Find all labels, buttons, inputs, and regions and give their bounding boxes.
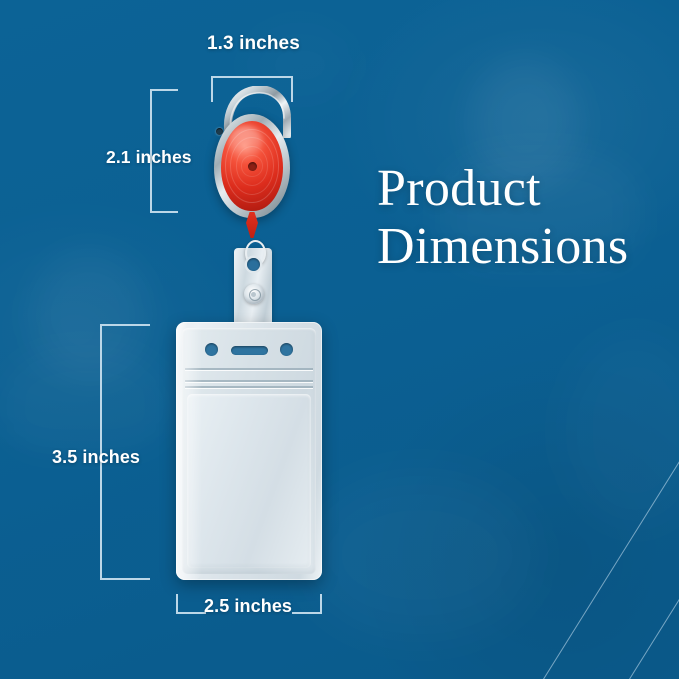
background-ghost-shape: [300, 470, 540, 640]
holder-seal-line: [185, 380, 313, 382]
vinyl-strap-clip: [234, 240, 272, 335]
carabiner-clip-icon: [223, 86, 293, 138]
reel-chrome-frame: [214, 114, 290, 218]
diagonal-accent-line: [629, 386, 679, 679]
strap-body: [234, 248, 272, 335]
reel-center-hub: [248, 162, 257, 171]
background-ghost-shape: [560, 330, 679, 530]
dimension-label-width-bottom: 2.5 inches: [204, 596, 292, 617]
reel-eyelet: [216, 128, 223, 135]
product-illustration: [0, 0, 679, 679]
badge-holder-pouch: [176, 322, 322, 580]
strap-snap-button: [244, 284, 264, 304]
reel-cord-connector: [246, 212, 258, 238]
page-title: Product Dimensions: [377, 160, 628, 276]
dimension-label-height-left2: 3.5 inches: [52, 447, 140, 468]
reel-ring: [241, 155, 262, 177]
page-title-line-1: Product: [377, 160, 541, 217]
reel-ring: [236, 146, 268, 186]
reel-ring: [230, 137, 273, 195]
holder-edge-sheen: [176, 322, 202, 580]
infographic-canvas: 1.3 inches 2.1 inches 3.5 inches 2.5 inc…: [0, 0, 679, 679]
holder-punch-hole: [280, 343, 293, 356]
holder-punch-hole: [205, 343, 218, 356]
holder-center-slot: [231, 346, 268, 355]
badge-reel: [205, 86, 299, 226]
reel-gloss-highlight: [228, 126, 263, 157]
reel-red-face: [221, 121, 283, 211]
diagonal-accent-line: [543, 280, 679, 679]
dimension-label-height-left: 2.1 inches: [106, 147, 192, 168]
holder-inner-panel: [182, 328, 316, 574]
background-ghost-shape: [30, 250, 150, 380]
background-ghost-shape: [0, 345, 170, 455]
holder-seal-line: [185, 368, 313, 370]
dimension-label-width-top: 1.3 inches: [207, 33, 300, 55]
strap-hole: [247, 258, 260, 271]
page-title-line-2: Dimensions: [377, 218, 628, 276]
strap-loop: [245, 240, 266, 266]
reel-ring: [225, 129, 278, 203]
dimension-bracket-width-top: [211, 76, 293, 102]
holder-card-window: [187, 394, 311, 568]
holder-seal-line: [185, 386, 313, 388]
